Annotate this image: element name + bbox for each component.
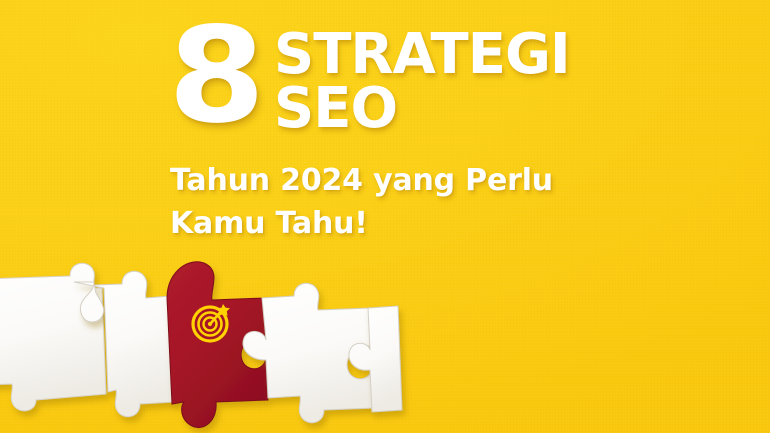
- headline-line-1: STRATEGI: [274, 28, 570, 82]
- subtitle-block: Tahun 2024 yang Perlu Kamu Tahu!: [170, 160, 640, 245]
- headline-line-2: SEO: [274, 82, 570, 136]
- subtitle-line-2: Kamu Tahu!: [170, 203, 640, 246]
- puzzle-svg: [0, 252, 394, 422]
- headline-words: STRATEGI SEO: [274, 12, 570, 137]
- headline-block: 8 STRATEGI SEO: [168, 12, 728, 139]
- headline-number: 8: [168, 14, 261, 139]
- headline-row: 8 STRATEGI SEO: [168, 12, 728, 139]
- seo-strategy-banner: 8 STRATEGI SEO Tahun 2024 yang Perlu Kam…: [0, 0, 770, 433]
- subtitle-line-1: Tahun 2024 yang Perlu: [170, 160, 640, 203]
- puzzle-pieces-graphic: [0, 252, 394, 422]
